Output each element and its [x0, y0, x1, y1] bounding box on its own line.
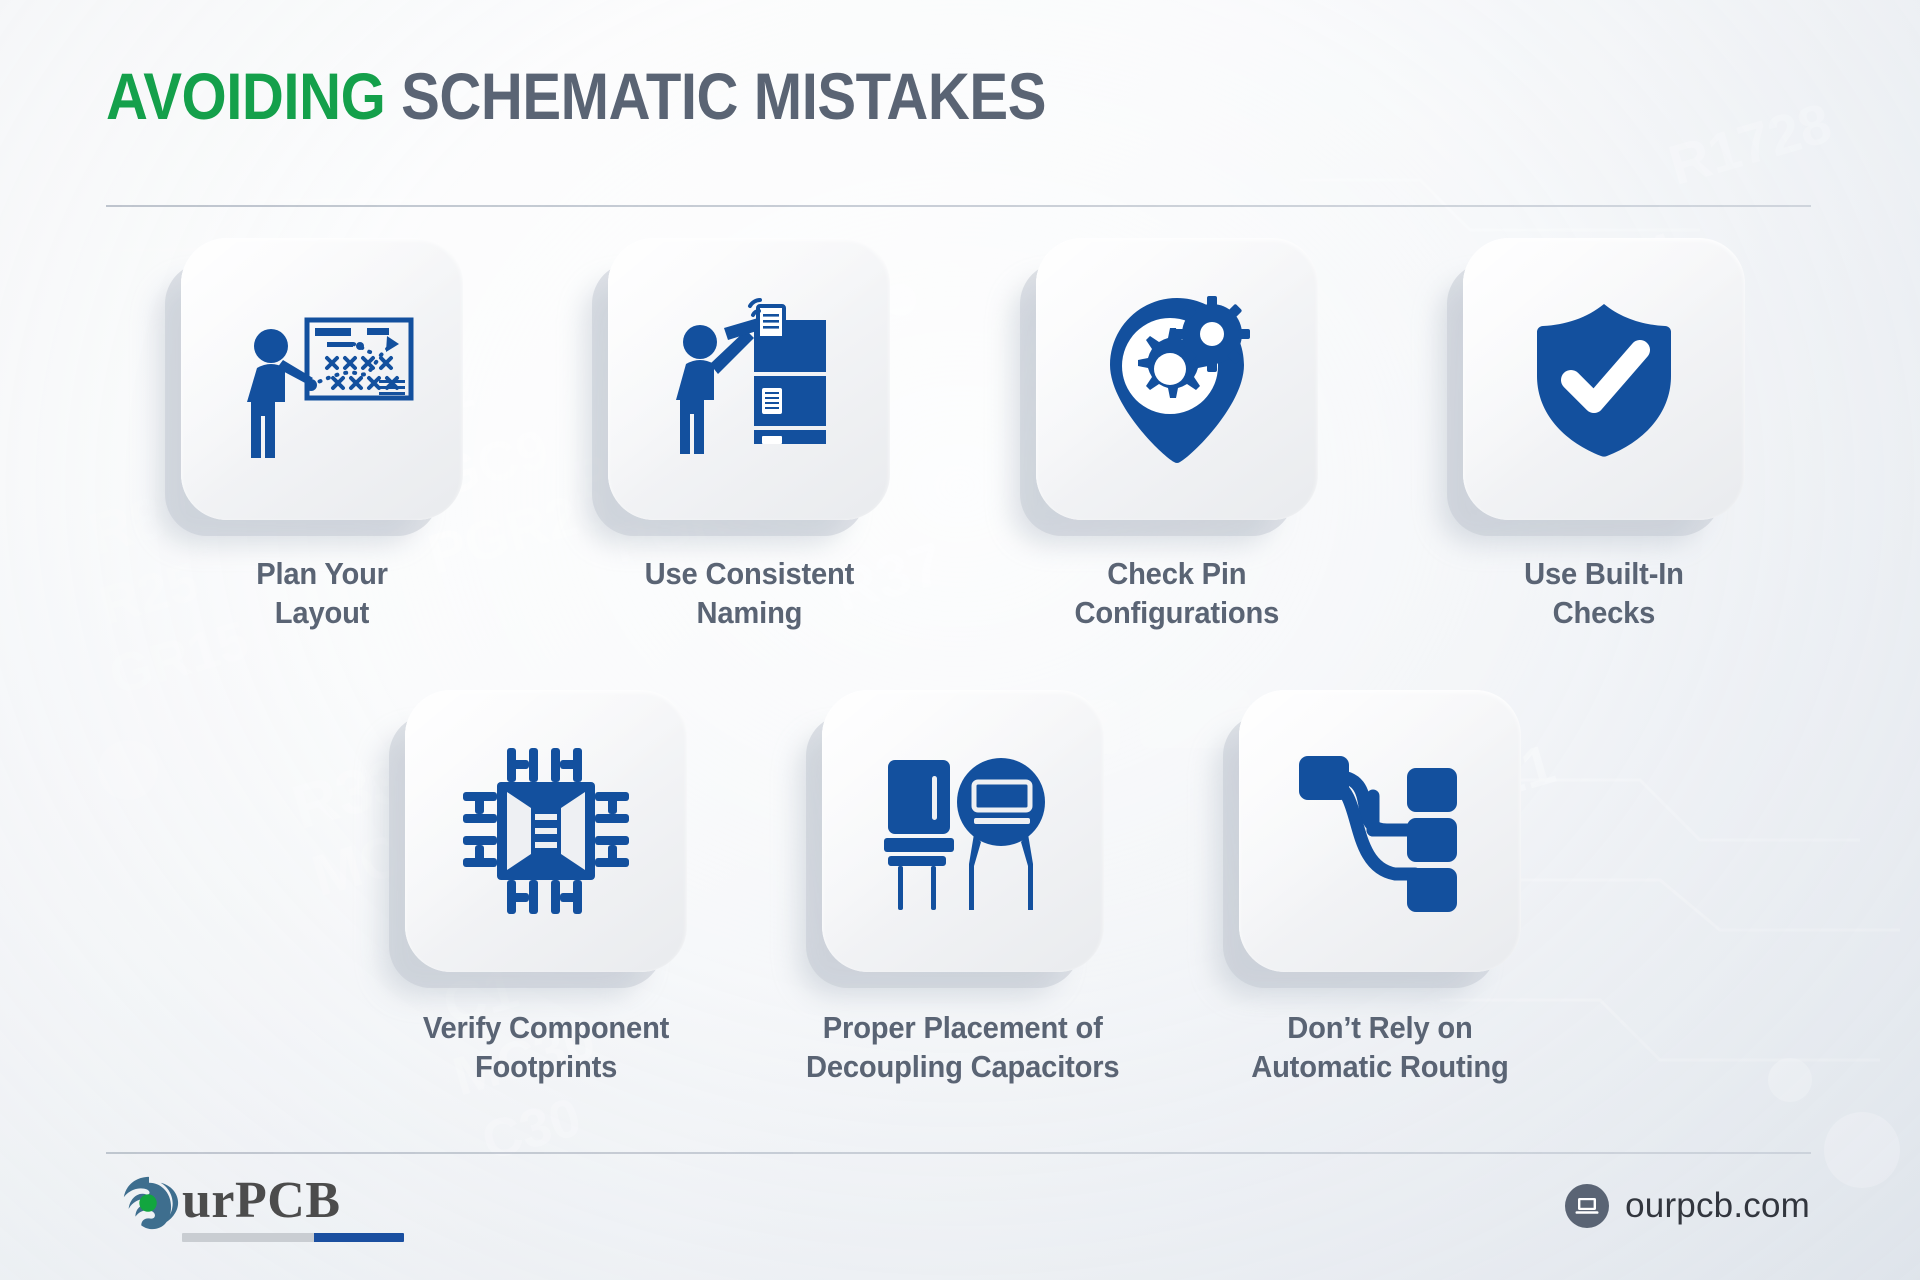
card-use-consistent-naming[interactable]: Use Consistent Naming: [536, 238, 964, 633]
routing-nodes-icon: [1287, 738, 1473, 924]
title-highlight: AVOIDING: [106, 59, 385, 133]
icon-card[interactable]: [181, 238, 463, 520]
card-plan-your-layout[interactable]: Plan Your Layout: [108, 238, 536, 633]
svg-text:C30: C30: [476, 1087, 588, 1172]
brand-logo[interactable]: urPCB: [118, 1173, 404, 1242]
footer-divider: [106, 1152, 1811, 1154]
icon-card[interactable]: [1036, 238, 1318, 520]
card-row-top: Plan Your Layout: [108, 238, 1818, 633]
card-check-pin-configurations[interactable]: Check Pin Configurations: [963, 238, 1391, 633]
page-title: AVOIDING SCHEMATIC MISTAKES: [106, 62, 1611, 131]
location-pin-gears-icon: [1082, 284, 1272, 474]
card-label: Verify Component Footprints: [423, 1008, 669, 1087]
brand-underline-blue: [314, 1233, 404, 1242]
title-rest: SCHEMATIC MISTAKES: [401, 59, 1046, 133]
icon-card[interactable]: [1463, 238, 1745, 520]
card-dont-rely-on-automatic-routing[interactable]: Don’t Rely on Automatic Routing: [1171, 690, 1588, 1087]
icon-card[interactable]: [405, 690, 687, 972]
infographic-page: PGC9 PGR20 GR21 R8 R25 GR15: [0, 0, 1920, 1280]
background-vignette: [0, 0, 1920, 1280]
card-label: Proper Placement of Decoupling Capacitor…: [806, 1008, 1119, 1087]
brand-underline: [182, 1233, 404, 1242]
card-label: Don’t Rely on Automatic Routing: [1251, 1008, 1508, 1087]
microchip-icon: [453, 738, 639, 924]
page-header: AVOIDING SCHEMATIC MISTAKES: [106, 62, 1816, 131]
card-row-bottom: Verify Component Footprints: [338, 690, 1588, 1087]
pcb-background-texture: PGC9 PGR20 GR21 R8 R25 GR15: [0, 0, 1920, 1280]
header-divider: [106, 205, 1811, 207]
shield-check-icon: [1509, 284, 1699, 474]
laptop-icon: [1565, 1184, 1609, 1228]
card-use-built-in-checks[interactable]: Use Built-In Checks: [1391, 238, 1819, 633]
presentation-planning-icon: [227, 284, 417, 474]
card-label: Plan Your Layout: [256, 554, 388, 633]
website-link[interactable]: ourpcb.com: [1565, 1184, 1810, 1228]
ourpcb-swirl-logo-icon: [118, 1173, 180, 1235]
brand-name: urPCB: [182, 1175, 404, 1227]
capacitors-icon: [870, 738, 1056, 924]
card-verify-component-footprints[interactable]: Verify Component Footprints: [338, 690, 755, 1087]
card-proper-placement-decoupling-capacitors[interactable]: Proper Placement of Decoupling Capacitor…: [755, 690, 1172, 1087]
card-label: Use Consistent Naming: [644, 554, 853, 633]
card-label: Use Built-In Checks: [1524, 554, 1684, 633]
card-label: Check Pin Configurations: [1074, 554, 1279, 633]
website-url: ourpcb.com: [1625, 1186, 1810, 1226]
icon-card[interactable]: [1239, 690, 1521, 972]
document-filing-icon: [654, 284, 844, 474]
brand-underline-gray: [182, 1233, 314, 1242]
icon-card[interactable]: [608, 238, 890, 520]
icon-card[interactable]: [822, 690, 1104, 972]
